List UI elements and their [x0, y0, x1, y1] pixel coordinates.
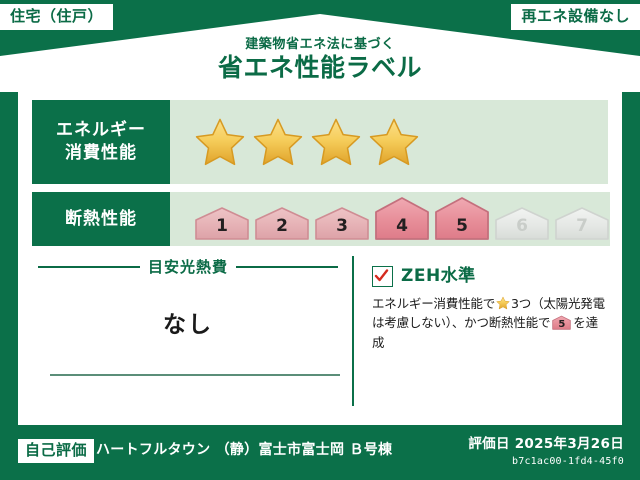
- zeh-description: エネルギー消費性能で 3つ（太陽光発電 は考慮しない）、かつ断熱性能で 5 を達…: [372, 294, 608, 352]
- star-icon: [252, 116, 304, 168]
- zeh-desc-part2: 3つ（太陽光発電: [511, 296, 605, 311]
- check-icon: [374, 268, 389, 283]
- footer-bar: 自己評価 ハートフルタウン （静）富士市富士岡 Ｂ号棟 評価日 2025年3月2…: [0, 425, 640, 480]
- building-type-tag: 住宅（住戸）: [0, 4, 113, 30]
- property-name: ハートフルタウン （静）富士市富士岡 Ｂ号棟: [96, 443, 392, 457]
- heading-rule-left: [38, 266, 140, 268]
- utility-cost-heading: 目安光熱費: [148, 256, 228, 277]
- zeh-block: ZEH水準 エネルギー消費性能で 3つ（太陽光発電 は考慮しない）、かつ断熱性能…: [372, 266, 608, 352]
- star-icon: [194, 116, 246, 168]
- insulation-level-3: 3: [314, 205, 370, 241]
- energy-performance-label-box: エネルギー 消費性能: [32, 100, 170, 184]
- star-rating: [194, 116, 420, 168]
- zeh-checkbox[interactable]: [372, 266, 393, 287]
- energy-label-line1: エネルギー: [56, 119, 146, 142]
- lower-section: 目安光熱費 なし ZEH水準 エネルギー消費性能で: [32, 256, 608, 414]
- zeh-desc-part1: エネルギー消費性能で: [372, 296, 495, 311]
- self-evaluation-badge: 自己評価: [18, 439, 94, 463]
- insulation-label-line1: 断熱性能: [65, 208, 137, 231]
- insulation-badge-number: 5: [552, 320, 571, 330]
- star-icon: [310, 116, 362, 168]
- insulation-level-5: 5: [434, 195, 490, 241]
- insulation-scale: 1 2 3: [194, 195, 610, 243]
- header-roof: 住宅（住戸） 再エネ設備なし 建築物省エネ法に基づく 省エネ性能ラベル: [0, 0, 640, 92]
- insulation-level-number: 3: [314, 218, 370, 235]
- insulation-level-number: 7: [554, 218, 610, 235]
- zeh-desc-part3: は考慮しない）、かつ断熱性能で: [372, 315, 550, 330]
- insulation-level-number: 5: [434, 218, 490, 235]
- label-card: エネルギー 消費性能: [18, 88, 622, 425]
- star-icon: [368, 116, 420, 168]
- insulation-level-4: 4: [374, 195, 430, 241]
- utility-cost-heading-row: 目安光熱費: [38, 256, 338, 277]
- insulation-level-number: 1: [194, 218, 250, 235]
- insulation-level-number: 4: [374, 218, 430, 235]
- utility-cost-block: 目安光熱費 なし: [38, 256, 338, 339]
- insulation-performance-row: 断熱性能 1 2: [32, 192, 608, 246]
- insulation-level-2: 2: [254, 205, 310, 241]
- section-divider: [352, 256, 354, 406]
- zeh-title: ZEH水準: [401, 268, 476, 285]
- insulation-performance-value: 1 2 3: [170, 192, 610, 246]
- heading-rule-right: [236, 266, 338, 268]
- insulation-level-7: 7: [554, 205, 610, 241]
- energy-label-line2: 消費性能: [65, 142, 137, 165]
- insulation-level-6: 6: [494, 205, 550, 241]
- zeh-title-row: ZEH水準: [372, 266, 608, 287]
- insulation-badge: 5: [552, 315, 571, 330]
- utility-cost-bottom-rule: [50, 374, 340, 376]
- energy-performance-value: [170, 100, 608, 184]
- insulation-level-number: 6: [494, 218, 550, 235]
- star-icon: [496, 296, 510, 310]
- evaluation-id: b7c1ac00-1fd4-45f0: [512, 457, 624, 467]
- evaluation-date: 評価日 2025年3月26日: [468, 438, 624, 452]
- insulation-level-1: 1: [194, 205, 250, 241]
- energy-performance-label: 住宅（住戸） 再エネ設備なし 建築物省エネ法に基づく 省エネ性能ラベル エネルギ…: [0, 0, 640, 480]
- renewable-equipment-tag: 再エネ設備なし: [511, 4, 640, 30]
- utility-cost-value: なし: [38, 305, 338, 339]
- energy-performance-row: エネルギー 消費性能: [32, 100, 608, 184]
- insulation-performance-label-box: 断熱性能: [32, 192, 170, 246]
- insulation-level-number: 2: [254, 218, 310, 235]
